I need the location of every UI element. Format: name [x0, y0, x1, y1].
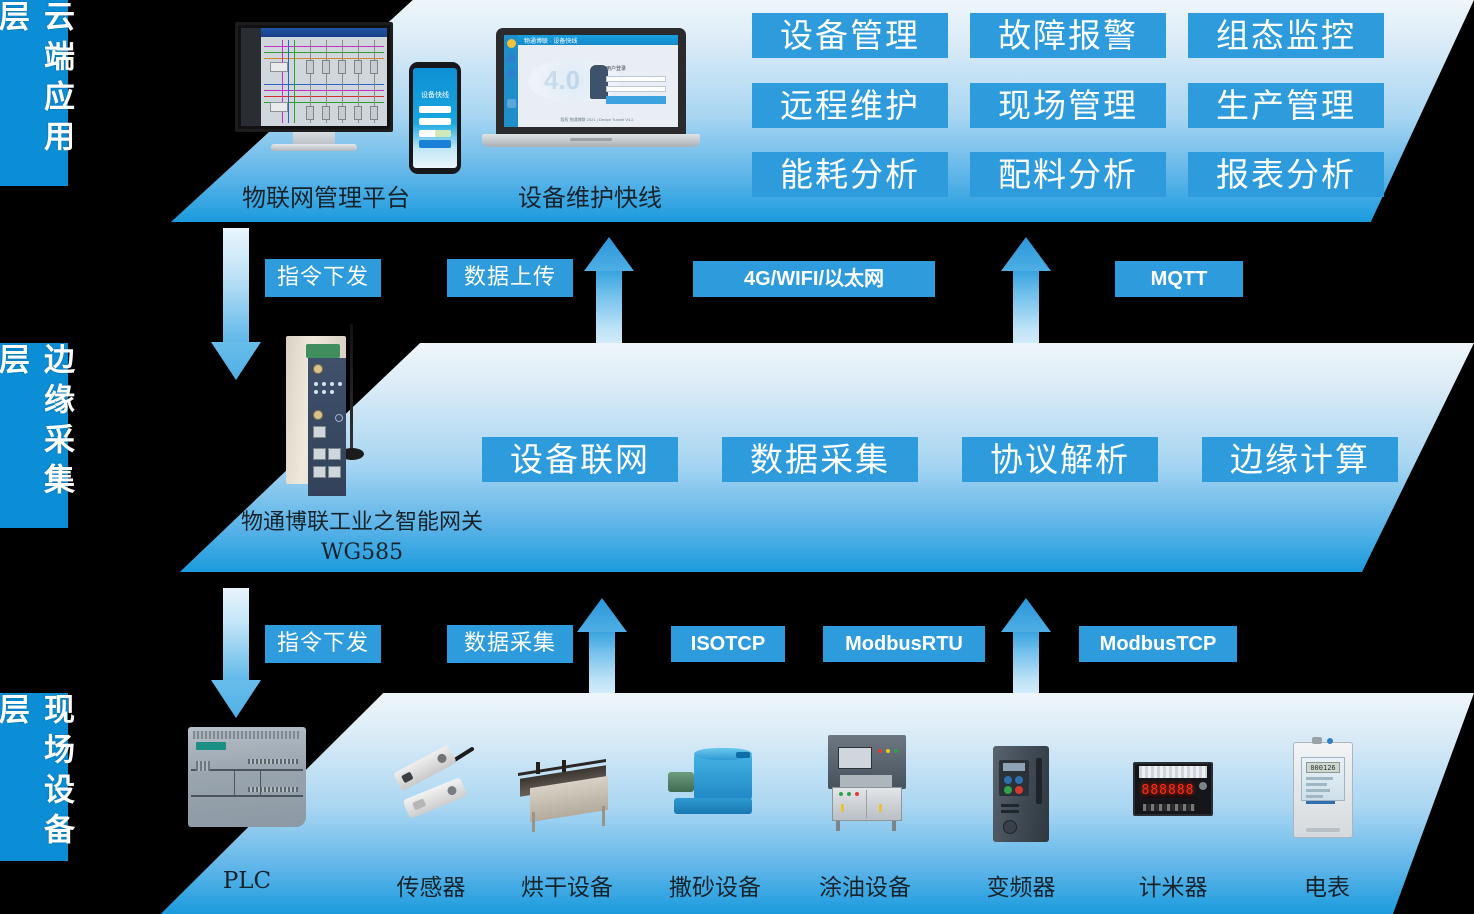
gateway-lan-port-2	[328, 448, 341, 460]
phone-app-title: 设备快线	[413, 90, 457, 100]
caption-oiler: 涂油设备	[806, 868, 924, 902]
sand-spreader-base	[674, 798, 752, 814]
scada-titlebar	[261, 28, 387, 37]
arrow-up-modbus-tcp	[1001, 598, 1051, 708]
app-function-scada-monitor[interactable]: 组态监控	[1188, 13, 1384, 58]
field-device-dryer	[516, 752, 616, 826]
caption-gateway-line1: 物通博联工业之智能网关	[192, 508, 532, 538]
layer-tab-cloud: 云端应用层	[0, 0, 68, 186]
layer-tab-edge-label: 边缘采集层	[0, 343, 79, 528]
laptop-lid: 物通博联 · 设备快线 4.0 用户登录 版权 物通博联 2021 | Devi…	[496, 28, 686, 136]
iot-platform-monitor	[235, 22, 393, 152]
edge-function-edge-computing[interactable]: 边缘计算	[1202, 437, 1398, 482]
phone-username-field[interactable]	[419, 106, 451, 113]
label-mqtt: MQTT	[1115, 261, 1243, 297]
layer-tab-field: 现场设备层	[0, 693, 68, 861]
gateway-lan-port-1	[313, 448, 326, 460]
field-device-electric-meter: 000126	[1293, 742, 1353, 838]
label-data-acquisition: 数据采集	[447, 625, 573, 663]
plc-module-icon	[188, 727, 306, 827]
field-device-counter: 888888	[1133, 762, 1213, 816]
meter-seal-cap	[1312, 737, 1322, 744]
counter-label-strip	[1139, 766, 1207, 778]
laptop-submit-button[interactable]	[606, 96, 666, 104]
gateway-chassis	[286, 336, 346, 484]
inverter-vent-slot	[1036, 758, 1042, 804]
caption-iot-platform: 物联网管理平台	[196, 178, 456, 213]
app-function-fault-alarm[interactable]: 故障报警	[970, 13, 1166, 58]
iot-platform-phone: 设备快线	[409, 62, 461, 174]
caption-electric-meter: 电表	[1268, 868, 1386, 902]
meter-indicator-led	[1327, 738, 1333, 744]
field-device-sensor	[388, 752, 484, 824]
monitor-screen	[235, 22, 393, 132]
laptop-screen: 物通博联 · 设备快线 4.0 用户登录 版权 物通博联 2021 | Devi…	[504, 35, 678, 127]
caption-sensor: 传感器	[372, 868, 490, 902]
edge-function-protocol-parsing[interactable]: 协议解析	[962, 437, 1158, 482]
caption-dryer: 烘干设备	[508, 868, 626, 902]
phone-captcha-image	[435, 130, 451, 137]
meter-info-rows	[1306, 777, 1340, 797]
gateway-sma-connector-bottom	[313, 410, 323, 420]
monitor-inner	[241, 28, 387, 126]
label-command-dispatch-top: 指令下发	[265, 259, 381, 297]
app-function-site-management[interactable]: 现场管理	[970, 83, 1166, 128]
app-function-remote-maintenance[interactable]: 远程维护	[752, 83, 948, 128]
app-function-device-management[interactable]: 设备管理	[752, 13, 948, 58]
counter-led-display: 888888	[1143, 782, 1193, 798]
laptop-login-form: 用户登录	[606, 65, 666, 104]
gateway-brand-logo	[335, 414, 343, 422]
laptop-desktop-dock	[504, 35, 518, 127]
arrow-up-data-acquisition	[577, 598, 627, 708]
gateway-antenna	[350, 324, 353, 452]
laptop-form-title: 用户登录	[606, 65, 666, 72]
scada-sidebar	[241, 28, 261, 126]
laptop-app-titlebar: 物通博联 · 设备快线	[518, 35, 678, 45]
app-function-production-management[interactable]: 生产管理	[1188, 83, 1384, 128]
gateway-sma-connector-top	[313, 364, 323, 374]
label-data-upload: 数据上传	[447, 259, 573, 297]
gateway-wan-port	[313, 426, 326, 438]
label-modbus-tcp: ModbusTCP	[1079, 626, 1237, 662]
scada-canvas	[261, 28, 387, 126]
label-network-4g-wifi-ethernet: 4G/WIFI/以太网	[693, 261, 935, 297]
app-function-energy-analysis[interactable]: 能耗分析	[752, 152, 948, 197]
meter-lcd-display: 000126	[1306, 762, 1340, 773]
laptop-trackpad-notch	[570, 138, 612, 141]
inverter-display	[1003, 763, 1025, 771]
gateway-lan-port-4	[328, 466, 341, 478]
meter-window: 000126	[1301, 757, 1345, 801]
label-modbus-rtu: ModbusRTU	[823, 626, 985, 662]
caption-gateway-line2: WG585	[192, 538, 532, 568]
laptop-footer: 版权 物通博联 2021 | Device Tunnel V4.2	[520, 117, 674, 123]
gateway-power-terminal	[306, 344, 340, 358]
oiling-machine-frame	[828, 735, 906, 789]
app-function-recipe-analysis[interactable]: 配料分析	[970, 152, 1166, 197]
meter-terminal-cover	[1306, 828, 1340, 832]
electric-meter-icon: 000126	[1293, 742, 1353, 838]
gateway-front-panel	[308, 358, 346, 496]
phone-password-field[interactable]	[419, 118, 451, 125]
laptop-password-field[interactable]	[606, 86, 666, 92]
counter-button-row[interactable]	[1143, 804, 1195, 811]
gateway-lan-port-3	[313, 466, 326, 478]
phone-screen: 设备快线	[413, 68, 457, 168]
field-device-sander	[668, 748, 760, 826]
field-device-inverter	[993, 746, 1049, 842]
monitor-base	[271, 144, 357, 151]
layer-tab-cloud-label: 云端应用层	[0, 0, 79, 186]
architecture-diagram: 云端应用层	[0, 0, 1474, 914]
field-device-plc	[188, 727, 306, 827]
label-isotcp: ISOTCP	[671, 626, 785, 662]
meter-counter-icon: 888888	[1133, 762, 1213, 816]
scada-schematic	[264, 40, 384, 123]
inverter-keypad	[999, 760, 1029, 796]
layer-tab-edge: 边缘采集层	[0, 343, 68, 528]
oiling-machine-window	[838, 747, 872, 769]
caption-inverter: 变频器	[962, 868, 1080, 902]
layer-tab-field-label: 现场设备层	[0, 693, 79, 861]
oiling-machine-cabinet	[832, 787, 902, 821]
edge-function-device-networking[interactable]: 设备联网	[482, 437, 678, 482]
sand-spreader-motor	[668, 772, 694, 792]
device-maintenance-laptop: 物通博联 · 设备快线 4.0 用户登录 版权 物通博联 2021 | Devi…	[482, 28, 700, 158]
app-function-report-analysis[interactable]: 报表分析	[1188, 152, 1384, 197]
laptop-app-title: 物通博联 · 设备快线	[524, 36, 577, 45]
industrial-gateway-device	[272, 318, 368, 493]
caption-plc: PLC	[188, 868, 306, 894]
label-command-dispatch-bottom: 指令下发	[265, 625, 381, 663]
edge-function-data-acquisition[interactable]: 数据采集	[722, 437, 918, 482]
caption-counter: 计米器	[1114, 868, 1232, 902]
field-device-oiler	[824, 731, 912, 831]
caption-sander: 撒砂设备	[656, 868, 774, 902]
laptop-username-field[interactable]	[606, 76, 666, 82]
frequency-inverter-icon	[993, 746, 1049, 842]
phone-login-button[interactable]	[419, 140, 451, 148]
caption-maintenance-line: 设备维护快线	[480, 178, 700, 213]
